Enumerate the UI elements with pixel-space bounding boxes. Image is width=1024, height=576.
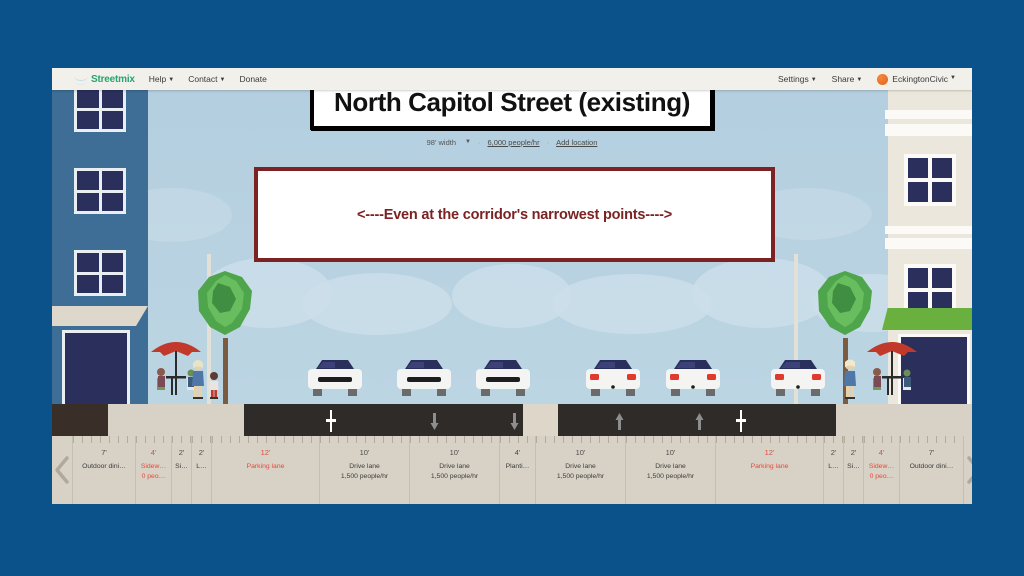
segment-detail-label: 1,500 people/hr [557, 472, 604, 482]
segment-width-label: 7' [929, 448, 935, 457]
segment-name-label: Sidew… [869, 462, 894, 472]
menu-item-share-label: Share [832, 74, 855, 84]
segment-name-label: Outdoor dini… [82, 462, 126, 472]
street-ground-walk [875, 404, 910, 436]
storefront-window-left [62, 330, 130, 404]
segment-name-label: Si… [847, 462, 860, 472]
street-segment[interactable]: 10'Drive lane1,500 people/hr [536, 436, 626, 504]
segment-width-label: 4' [879, 448, 885, 457]
scroll-right-button[interactable] [964, 436, 972, 504]
segment-ruler-ticks [192, 436, 211, 443]
chevron-down-icon: ▼ [950, 75, 956, 81]
street-width-value[interactable]: 98' width [427, 138, 456, 147]
segment-width-label: 2' [199, 448, 205, 457]
segment-width-label: 10' [666, 448, 676, 457]
brand-name: Streetmix [91, 74, 135, 85]
annotation-callout: <----Even at the corridor's narrowest po… [254, 167, 775, 262]
menu-item-contact[interactable]: Contact▼ [188, 74, 225, 84]
cafe-umbrella-right [864, 332, 920, 404]
lane-direction-arrow-up [695, 413, 704, 430]
street-ground-walk [205, 404, 224, 436]
car-drive-lane-1 [393, 357, 455, 404]
chevron-down-icon: ▼ [220, 77, 226, 83]
streetmix-app-window: Streetmix Help▼ Contact▼ Donate Settings… [52, 68, 972, 504]
segment-width-label: 10' [360, 448, 370, 457]
street-segment[interactable]: 2'Si… [844, 436, 864, 504]
street-segment[interactable]: 12'Parking lane [716, 436, 824, 504]
menu-item-help[interactable]: Help▼ [149, 74, 174, 84]
awning-left [52, 306, 148, 326]
street-meta-row: 98' width ▼ · 6,000 people/hr · Add loca… [427, 138, 598, 147]
avatar [877, 74, 888, 85]
street-ground-walk [836, 404, 855, 436]
street-ground-walk [856, 404, 875, 436]
menu-item-contact-label: Contact [188, 74, 217, 84]
street-ground-road [348, 404, 435, 436]
separator: · [547, 138, 550, 147]
segment-width-label: 10' [576, 448, 586, 457]
street-capacity-value[interactable]: 6,000 people/hr [487, 138, 539, 147]
segment-name-label: Parking lane [247, 462, 285, 472]
menu-bar: Streetmix Help▼ Contact▼ Donate Settings… [52, 68, 972, 90]
segment-ruler-ticks [900, 436, 963, 443]
window-icon [74, 168, 126, 214]
segment-width-label: 12' [261, 448, 271, 457]
segment-ruler-ticks [864, 436, 899, 443]
street-ground-walk [108, 404, 170, 436]
lane-direction-arrow-down [510, 413, 519, 430]
segment-width-label: 4' [151, 448, 157, 457]
annotation-text: <----Even at the corridor's narrowest po… [357, 207, 672, 223]
segment-detail-label: 1,500 people/hr [431, 472, 478, 482]
building-base-left [52, 404, 108, 436]
street-segment[interactable]: 10'Drive lane1,500 people/hr [626, 436, 716, 504]
parking-lane-marking-right [740, 410, 742, 432]
street-ground-road [732, 404, 837, 436]
segment-name-label: L… [828, 462, 839, 472]
street-segment[interactable]: 4'Sidew…0 peo… [136, 436, 172, 504]
menu-item-donate[interactable]: Donate [239, 74, 266, 84]
segment-name-label: Parking lane [751, 462, 789, 472]
segment-name-label: Drive lane [565, 462, 596, 472]
segment-name-label: Sidew… [141, 462, 166, 472]
add-location-link[interactable]: Add location [556, 138, 597, 147]
user-name-label: EckingtonCivic [892, 74, 948, 84]
segment-width-label: 10' [450, 448, 460, 457]
segment-name-label: Drive lane [349, 462, 380, 472]
segment-detail-label: 0 peo… [870, 472, 894, 482]
window-icon [904, 154, 956, 206]
street-segment[interactable]: 2'Si… [172, 436, 192, 504]
segment-ruler-ticks [824, 436, 843, 443]
segment-ruler-ticks [73, 436, 135, 443]
segment-width-label: 12' [765, 448, 775, 457]
street-ground-road [558, 404, 645, 436]
pedestrian-adult-left [190, 359, 206, 404]
segment-ruler-ticks [626, 436, 715, 443]
segment-ruler-ticks [716, 436, 823, 443]
chevron-down-icon: ▼ [465, 139, 471, 145]
street-segment[interactable]: 12'Parking lane [212, 436, 320, 504]
segment-ruler-ticks [136, 436, 171, 443]
chevron-down-icon: ▼ [811, 77, 817, 83]
street-segment[interactable]: 7'Outdoor dini… [72, 436, 136, 504]
segment-ruler-ticks [172, 436, 191, 443]
segment-ruler-ticks [500, 436, 535, 443]
segment-ruler-ticks [212, 436, 319, 443]
street-ground-walk [170, 404, 205, 436]
segment-ruler-ticks [320, 436, 409, 443]
menu-item-help-label: Help [149, 74, 166, 84]
segment-name-label: Si… [175, 462, 188, 472]
chevron-down-icon: ▼ [856, 77, 862, 83]
car-parked-right [767, 357, 829, 404]
street-segment[interactable]: 7'Outdoor dini… [900, 436, 964, 504]
segment-detail-label: 1,500 people/hr [647, 472, 694, 482]
user-account-menu[interactable]: EckingtonCivic▼ [877, 74, 956, 85]
menu-item-donate-label: Donate [239, 74, 266, 84]
window-icon [74, 250, 126, 296]
segment-width-label: 2' [179, 448, 185, 457]
street-segment[interactable]: 4'Planti… [500, 436, 536, 504]
street-ground-walk [910, 404, 972, 436]
street-segment[interactable]: 10'Drive lane1,500 people/hr [320, 436, 410, 504]
segment-name-label: Drive lane [655, 462, 686, 472]
car-parked-left [304, 357, 366, 404]
streetmix-logo[interactable]: Streetmix [74, 74, 135, 85]
menu-item-settings-label: Settings [778, 74, 809, 84]
segment-width-label: 2' [831, 448, 837, 457]
pedestrian-adult-right [842, 359, 858, 404]
segment-name-label: L… [196, 462, 207, 472]
car-drive-lane-4 [662, 357, 724, 404]
street-segment[interactable]: 2'L… [192, 436, 212, 504]
street-segment[interactable]: 2'L… [824, 436, 844, 504]
segment-name-label: Drive lane [439, 462, 470, 472]
segment-width-label: 7' [101, 448, 107, 457]
page-title: North Capitol Street (existing) [334, 87, 690, 118]
lane-direction-arrow-down [430, 413, 439, 430]
car-drive-lane-2 [472, 357, 534, 404]
segment-ruler-ticks [844, 436, 863, 443]
chevron-down-icon: ▼ [168, 77, 174, 83]
lane-direction-arrow-up [615, 413, 624, 430]
pedestrian-child-left [208, 371, 220, 404]
street-ground-plant [523, 404, 558, 436]
streetmix-swoosh-icon [74, 75, 88, 84]
segment-ruler-ticks [410, 436, 499, 443]
car-drive-lane-3 [582, 357, 644, 404]
segment-detail-label: 1,500 people/hr [341, 472, 388, 482]
segment-width-label: 4' [515, 448, 521, 457]
segment-detail-label: 0 peo… [142, 472, 166, 482]
menu-item-share[interactable]: Share▼ [832, 74, 863, 84]
street-ground-road [645, 404, 732, 436]
segment-ruler-ticks [536, 436, 625, 443]
separator: · [478, 138, 481, 147]
street-ground-walk [224, 404, 243, 436]
segment-width-label: 2' [851, 448, 857, 457]
segment-name-label: Planti… [506, 462, 530, 472]
street-segment[interactable]: 10'Drive lane1,500 people/hr [410, 436, 500, 504]
segment-ruler: 7'Outdoor dini…4'Sidew…0 peo…2'Si…2'L…12… [52, 436, 972, 504]
segment-name-label: Outdoor dini… [910, 462, 954, 472]
street-segment[interactable]: 4'Sidew…0 peo… [864, 436, 900, 504]
scroll-left-button[interactable] [52, 436, 72, 504]
street-section: 7'Outdoor dini…4'Sidew…0 peo…2'Si…2'L…12… [52, 404, 972, 504]
awning-right [882, 308, 972, 330]
menu-item-settings[interactable]: Settings▼ [778, 74, 817, 84]
parking-lane-marking-left [330, 410, 332, 432]
